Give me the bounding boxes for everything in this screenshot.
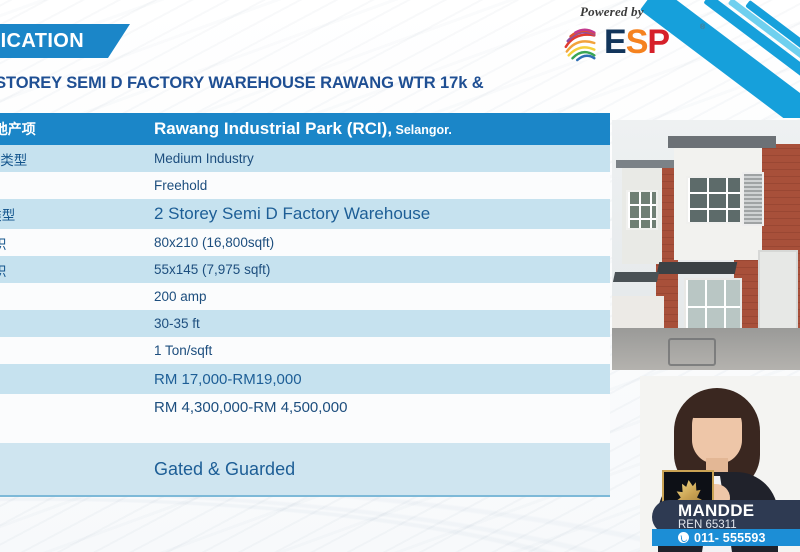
- table-bottom-rule: [0, 495, 610, 497]
- esp-fingerprint-icon: [562, 24, 600, 62]
- row-label: Supply 电压: [0, 287, 150, 307]
- esp-logo: Powered by ESP ®: [556, 4, 706, 62]
- row-label: g Heights 高度: [0, 314, 150, 334]
- table-header-label: ct Property 房地产项: [0, 119, 150, 139]
- photo-window-upper: [686, 176, 742, 224]
- section-title-banner: IFICATION: [0, 24, 130, 58]
- slide-canvas: Powered by ESP ® IFICATION: [0, 0, 800, 552]
- stripe-thin: [745, 0, 800, 118]
- powered-by-label: Powered by: [580, 4, 644, 20]
- remarks-value: Gated & Guarded: [150, 459, 610, 480]
- esp-letter-e: E: [604, 23, 626, 61]
- table-row: Price 卖价 RM 4,300,000-RM 4,500,000: [0, 394, 610, 421]
- photo-roof-left: [616, 160, 674, 168]
- table-row-remarks: ks 备注 Gated & Guarded: [0, 443, 610, 495]
- agent-phone-bar[interactable]: 011- 555593: [652, 529, 800, 546]
- table-header-row: ct Property 房地产项 Rawang Industrial Park …: [0, 113, 610, 145]
- row-value: 200 amp: [150, 289, 610, 304]
- agent-fringe: [686, 392, 748, 418]
- photo-bicycle: [668, 338, 716, 366]
- photo-awning: [657, 262, 738, 274]
- table-spacer: [0, 421, 610, 443]
- esp-wordmark: ESP: [604, 23, 669, 61]
- row-label: f Building 建筑类型: [0, 204, 150, 224]
- project-name: Rawang Industrial Park (RCI),: [154, 119, 392, 138]
- phone-icon: [678, 532, 689, 543]
- registered-mark: ®: [700, 24, 705, 31]
- agent-name: MANDDE: [678, 502, 800, 519]
- row-value: RM 17,000-RM19,000: [150, 371, 610, 388]
- table-row: 占有期 Freehold: [0, 172, 610, 199]
- table-row: up Area 土地面积 80x210 (16,800sqft): [0, 229, 610, 256]
- listing-subtitle: TION : 2617- 2 STOREY SEMI D FACTORY WAR…: [0, 72, 642, 116]
- row-value: Freehold: [150, 178, 610, 193]
- photo-boundary-wall: [612, 296, 664, 332]
- row-value: RM 4,300,000-RM 4,500,000: [150, 399, 610, 416]
- esp-letter-s: S: [626, 23, 648, 61]
- photo-entrance-door: [684, 278, 742, 334]
- row-label: ly 月租: [0, 369, 150, 389]
- esp-letter-p: P: [647, 23, 669, 61]
- photo-awning-left: [613, 272, 659, 282]
- remarks-label: ks 备注: [0, 459, 150, 479]
- section-title-text: IFICATION: [0, 30, 84, 53]
- table-row: ory of Land 土地类型 Medium Industry: [0, 145, 610, 172]
- row-value: 80x210 (16,800sqft): [150, 235, 610, 250]
- photo-roof-main: [668, 136, 776, 148]
- row-label: ory of Land 土地类型: [0, 149, 150, 169]
- row-label: oading 地面负荷: [0, 341, 150, 361]
- row-value: 2 Storey Semi D Factory Warehouse: [150, 204, 610, 224]
- table-row: oading 地面负荷 1 Ton/sqft: [0, 337, 610, 364]
- project-state: Selangor.: [392, 123, 452, 137]
- stripe-medium: [703, 0, 800, 118]
- row-label: up Area 建筑面积: [0, 260, 150, 280]
- row-label: 占有期: [0, 176, 150, 196]
- table-row: ly 月租 RM 17,000-RM19,000: [0, 364, 610, 394]
- specification-table: ct Property 房地产项 Rawang Industrial Park …: [0, 113, 610, 497]
- row-value: 1 Ton/sqft: [150, 343, 610, 358]
- row-label: up Area 土地面积: [0, 233, 150, 253]
- agent-phone-number: 011- 555593: [694, 531, 766, 545]
- photo-vent-grille: [742, 172, 764, 226]
- row-value: 30-35 ft: [150, 316, 610, 331]
- row-label: Price 卖价: [0, 398, 150, 418]
- table-header-value: Rawang Industrial Park (RCI), Selangor.: [150, 119, 610, 139]
- photo-window-left: [626, 190, 658, 230]
- table-row: up Area 建筑面积 55x145 (7,975 sqft): [0, 256, 610, 283]
- table-row: Supply 电压 200 amp: [0, 283, 610, 310]
- stripe-light: [728, 0, 800, 118]
- row-value: 55x145 (7,975 sqft): [150, 262, 610, 277]
- table-row: g Heights 高度 30-35 ft: [0, 310, 610, 337]
- table-row: f Building 建筑类型 2 Storey Semi D Factory …: [0, 199, 610, 229]
- photo-garage-opening: [758, 250, 798, 336]
- row-value: Medium Industry: [150, 151, 610, 166]
- property-photo: [612, 120, 800, 370]
